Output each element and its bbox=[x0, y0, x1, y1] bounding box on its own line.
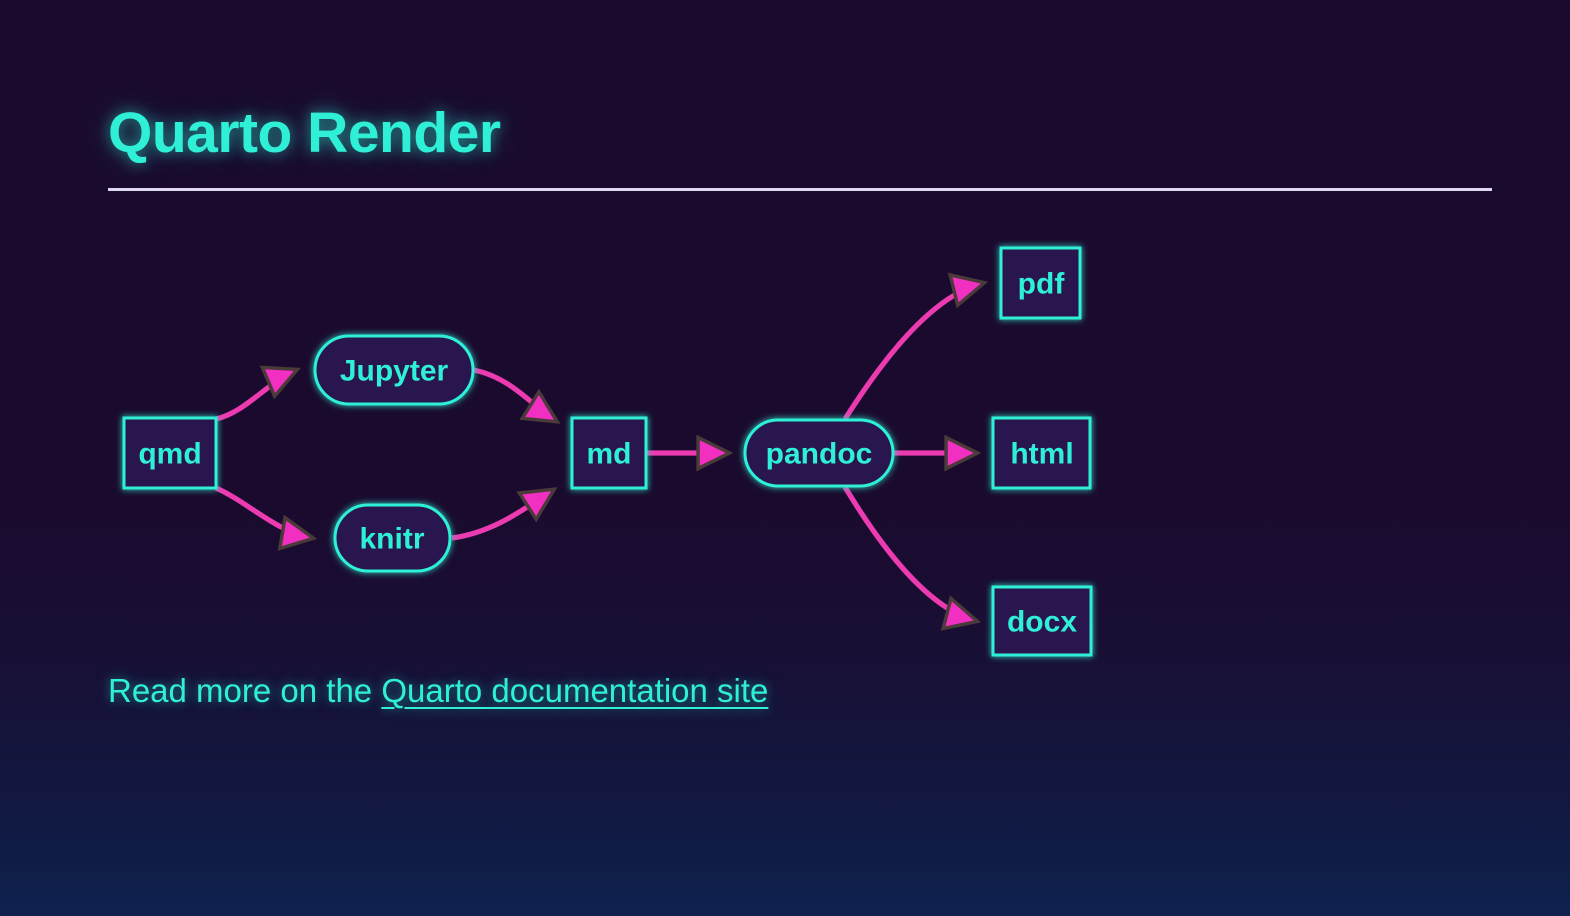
quarto-render-flowchart: qmd Jupyter knitr md bbox=[0, 210, 1570, 670]
node-qmd[interactable]: qmd bbox=[124, 418, 216, 488]
node-qmd-label: qmd bbox=[138, 438, 201, 471]
quarto-documentation-link[interactable]: Quarto documentation site bbox=[381, 672, 768, 709]
node-html-label: html bbox=[1010, 438, 1073, 471]
node-jupyter[interactable]: Jupyter bbox=[315, 336, 473, 404]
node-md-label: md bbox=[587, 438, 632, 471]
node-pdf-label: pdf bbox=[1018, 268, 1066, 301]
node-md[interactable]: md bbox=[572, 418, 646, 488]
edge-qmd-knitr bbox=[216, 488, 312, 538]
node-pandoc-label: pandoc bbox=[766, 438, 873, 471]
title-block: Quarto Render bbox=[108, 104, 1492, 164]
footer-read-more: Read more on the Quarto documentation si… bbox=[108, 672, 768, 710]
edge-pandoc-docx bbox=[845, 487, 976, 621]
node-docx-label: docx bbox=[1007, 606, 1077, 639]
flowchart-svg: qmd Jupyter knitr md bbox=[0, 210, 1570, 670]
edge-knitr-md bbox=[452, 490, 553, 538]
title-divider bbox=[108, 188, 1492, 191]
page-title: Quarto Render bbox=[108, 104, 1492, 164]
node-pandoc[interactable]: pandoc bbox=[745, 420, 893, 486]
edge-jupyter-md bbox=[474, 370, 556, 421]
node-docx[interactable]: docx bbox=[993, 587, 1091, 655]
node-jupyter-label: Jupyter bbox=[340, 355, 449, 388]
edge-qmd-jupyter bbox=[216, 370, 296, 419]
edge-pandoc-pdf bbox=[845, 283, 983, 419]
slide: Quarto Render bbox=[0, 0, 1570, 916]
node-html[interactable]: html bbox=[993, 418, 1090, 488]
node-knitr[interactable]: knitr bbox=[335, 505, 450, 571]
node-knitr-label: knitr bbox=[359, 523, 424, 556]
node-pdf[interactable]: pdf bbox=[1001, 248, 1080, 318]
footer-lead-text: Read more on the bbox=[108, 672, 381, 709]
